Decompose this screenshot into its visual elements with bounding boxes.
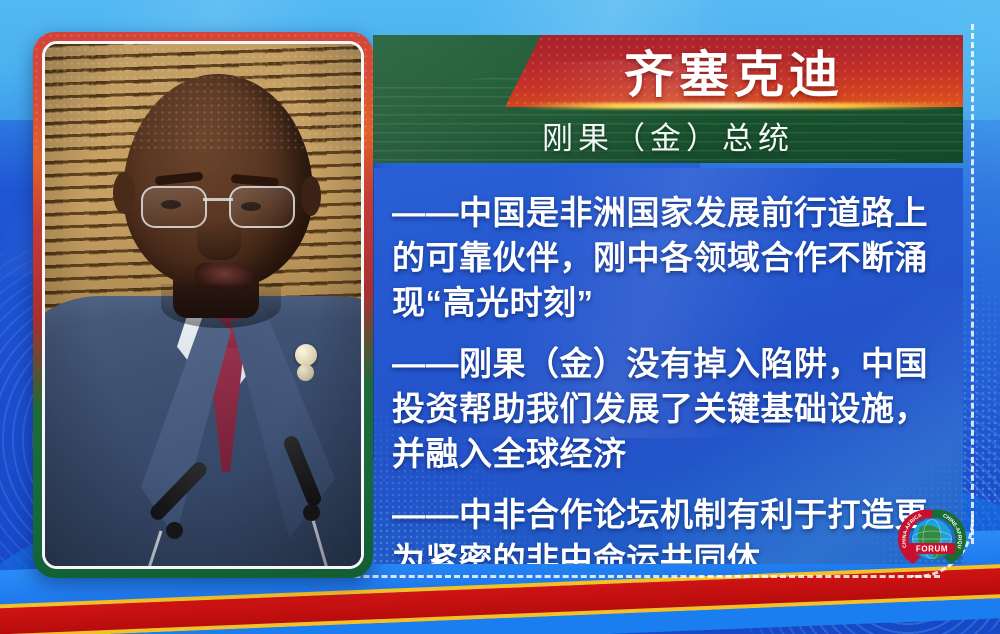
microphone-joint-right [303, 504, 320, 521]
quote-panel: ——中国是非洲国家发展前行道路上的可靠伙伴，刚中各领域合作不断涌现“高光时刻” … [374, 168, 963, 564]
quote-item: ——刚果（金）没有掉入陷阱，中国投资帮助我们发展了关键基础设施，并融入全球经济 [392, 341, 948, 476]
dashed-guide-horizontal [300, 575, 940, 578]
person-figure [45, 136, 361, 566]
svg-text:FORUM: FORUM [916, 545, 948, 554]
portrait-frame [33, 32, 373, 578]
nose [197, 220, 241, 260]
ear-left [113, 172, 135, 214]
speaker-title: 刚果（金）总统 [373, 107, 963, 163]
portrait-photo [42, 41, 364, 569]
microphone-joint-left [166, 522, 183, 539]
portrait-scene [45, 44, 361, 566]
ear-right [301, 176, 321, 216]
quote-list: ——中国是非洲国家发展前行道路上的可靠伙伴，刚中各领域合作不断涌现“高光时刻” … [392, 190, 948, 564]
focac-logo: FORUM CHINA-AFRICA CHINE-AFRIQUE [896, 505, 968, 577]
slide-canvas: 齐塞克迪 刚果（金）总统 ——中国是非洲国家发展前行道路上的可靠伙伴，刚中各领域… [0, 0, 1000, 634]
chin-shadow [161, 284, 281, 328]
lapel-pin-secondary [297, 364, 314, 381]
quote-item: ——中国是非洲国家发展前行道路上的可靠伙伴，刚中各领域合作不断涌现“高光时刻” [392, 190, 948, 325]
lapel-pin [295, 344, 317, 366]
dashed-guide-vertical [971, 24, 974, 544]
quote-item: ——中非合作论坛机制有利于打造更为紧密的非中命运共同体 [392, 492, 948, 564]
speaker-name: 齐塞克迪 [505, 35, 963, 107]
